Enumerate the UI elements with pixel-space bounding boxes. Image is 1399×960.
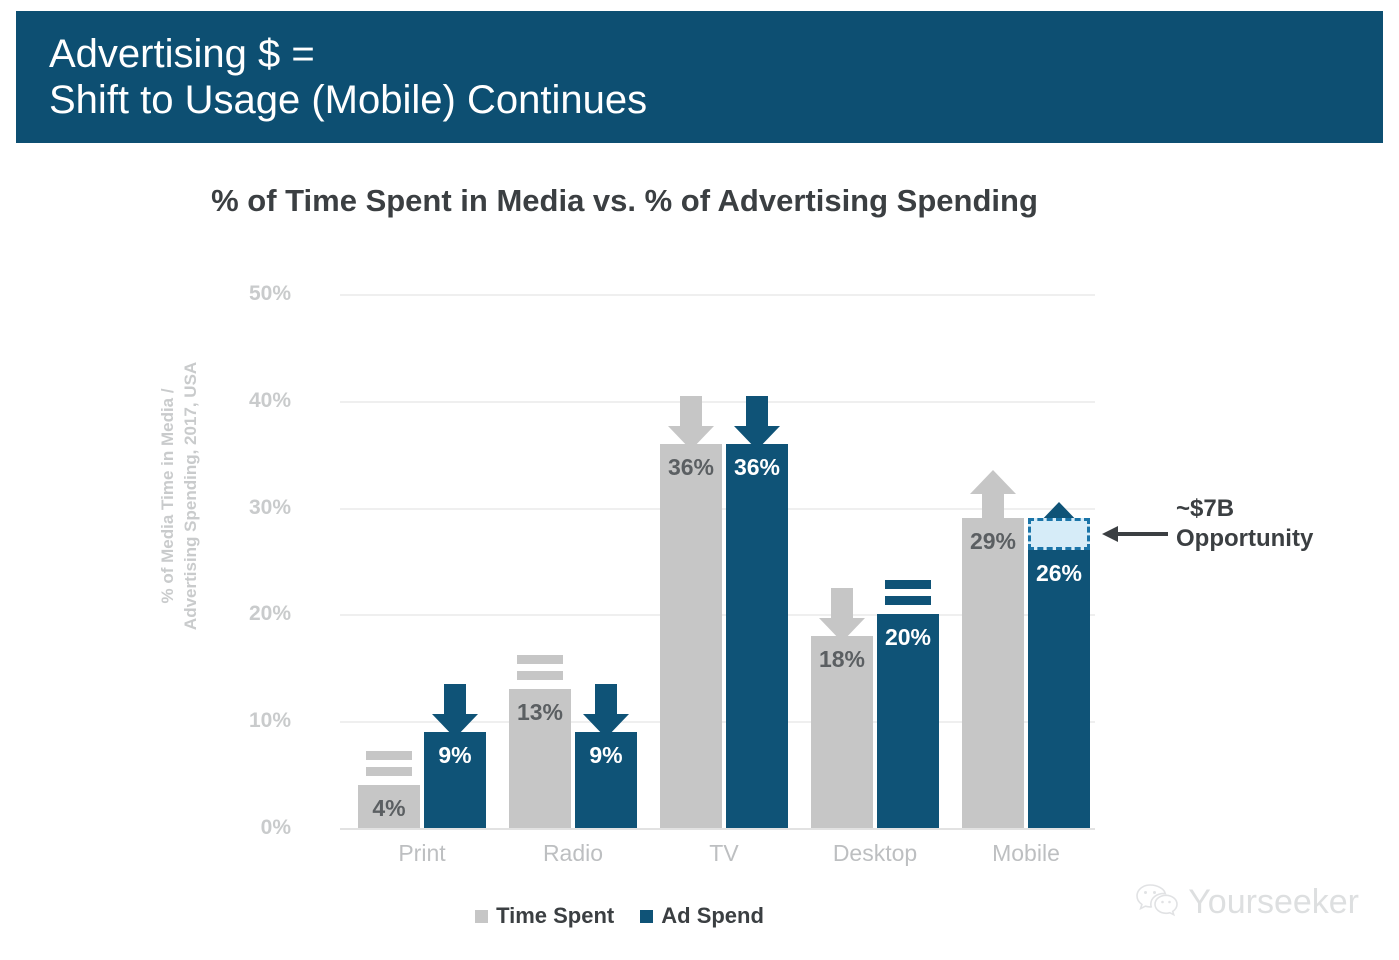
bar-value-label: 13%	[509, 699, 571, 726]
x-axis-label-print: Print	[358, 840, 486, 867]
opportunity-annotation-label: ~$7B Opportunity	[1176, 494, 1313, 554]
header-banner: Advertising $ = Shift to Usage (Mobile) …	[16, 11, 1383, 143]
bar-mobile-time-spent[interactable]: 29%	[962, 518, 1024, 828]
bar-radio-time-spent[interactable]: 13%	[509, 689, 571, 828]
page-title: Advertising $ = Shift to Usage (Mobile) …	[16, 31, 647, 123]
plot-area: 4%9%Print13%9%Radio36%36%TV18%20%Desktop…	[340, 294, 1095, 828]
x-axis-label-radio: Radio	[509, 840, 637, 867]
equals-icon	[358, 731, 420, 777]
bar-print-ad-spend[interactable]: 9%	[424, 732, 486, 828]
x-axis-label-tv: TV	[660, 840, 788, 867]
bar-radio-ad-spend[interactable]: 9%	[575, 732, 637, 828]
bar-value-label: 36%	[660, 454, 722, 481]
bar-value-label: 29%	[962, 528, 1024, 555]
bar-desktop-ad-spend[interactable]: 20%	[877, 614, 939, 828]
bar-value-label: 4%	[358, 795, 420, 822]
equals-icon	[877, 560, 939, 606]
opportunity-box[interactable]	[1028, 518, 1090, 550]
arrow-down-icon	[575, 680, 637, 742]
y-axis-tick-label: 0%	[221, 816, 291, 840]
arrow-down-icon	[811, 584, 873, 646]
watermark-text: Yourseeker	[1188, 883, 1359, 922]
arrow-down-icon	[726, 392, 788, 454]
watermark: Yourseeker	[1136, 883, 1359, 922]
bar-value-label: 9%	[424, 742, 486, 769]
y-axis-tick-label: 20%	[221, 602, 291, 626]
y-axis-tick-label: 40%	[221, 389, 291, 413]
bar-group-print: 4%9%	[358, 294, 486, 828]
x-axis-label-mobile: Mobile	[962, 840, 1090, 867]
legend-item-time-spent[interactable]: Time Spent	[475, 903, 614, 929]
bar-group-tv: 36%36%	[660, 294, 788, 828]
chart-title: % of Time Spent in Media vs. % of Advert…	[0, 183, 1399, 219]
bar-group-radio: 13%9%	[509, 294, 637, 828]
bar-tv-time-spent[interactable]: 36%	[660, 444, 722, 828]
legend-label: Time Spent	[496, 903, 614, 929]
bar-tv-ad-spend[interactable]: 36%	[726, 444, 788, 828]
bar-desktop-time-spent[interactable]: 18%	[811, 636, 873, 828]
x-axis-label-desktop: Desktop	[811, 840, 939, 867]
bar-value-label: 26%	[1028, 560, 1090, 587]
opportunity-pointer-icon	[1100, 523, 1170, 550]
y-axis-tick-label: 10%	[221, 709, 291, 733]
bar-value-label: 18%	[811, 646, 873, 673]
chart-container: % of Time Spent in Media vs. % of Advert…	[0, 143, 1399, 960]
arrow-down-icon	[424, 680, 486, 742]
arrow-up-icon	[962, 466, 1024, 528]
legend-label: Ad Spend	[661, 903, 764, 929]
y-axis-tick-label: 50%	[221, 282, 291, 306]
y-axis-tick-label: 30%	[221, 496, 291, 520]
arrow-down-icon	[660, 392, 722, 454]
bar-group-desktop: 18%20%	[811, 294, 939, 828]
bar-mobile-ad-spend[interactable]: 26%	[1028, 550, 1090, 828]
legend-swatch	[640, 910, 653, 923]
wechat-icon	[1136, 883, 1178, 922]
bar-value-label: 9%	[575, 742, 637, 769]
legend-swatch	[475, 910, 488, 923]
bar-value-label: 36%	[726, 454, 788, 481]
bar-value-label: 20%	[877, 624, 939, 651]
gridline	[340, 828, 1095, 830]
bar-group-mobile: 29%26%	[962, 294, 1090, 828]
equals-icon	[509, 635, 571, 681]
legend-item-ad-spend[interactable]: Ad Spend	[640, 903, 764, 929]
